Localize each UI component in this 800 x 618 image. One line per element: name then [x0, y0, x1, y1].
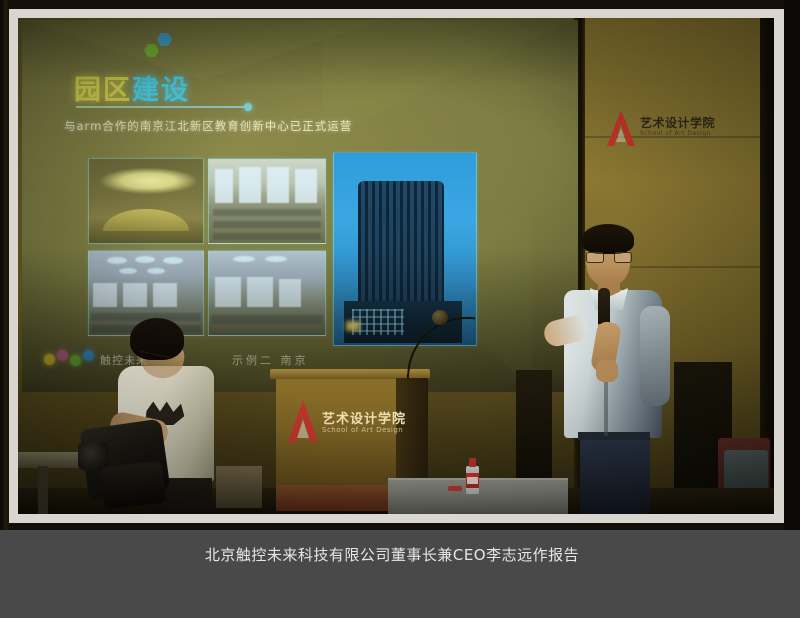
bottle-cap [469, 458, 476, 467]
screenshot-root: 园区建设 与arm合作的南京江北新区教育创新中心已正式运营 [0, 0, 800, 618]
glasses-lens-right [614, 252, 632, 263]
caption-bar: 北京触控未来科技有限公司董事长兼CEO李志远作报告 [0, 530, 800, 618]
presenter-trousers [580, 436, 650, 514]
podium-logo-text: 艺术设计学院 [322, 408, 406, 427]
presenter-hand [596, 360, 618, 382]
venue-wall-logo: 艺术设计学院 School of Art Design [604, 108, 714, 150]
red-arrow-logo-icon [604, 108, 638, 148]
water-bottle [466, 458, 479, 494]
photo-frame-border: 园区建设 与arm合作的南京江北新区教育创新中心已正式运营 [9, 9, 784, 523]
podium-logo-sub: School of Art Design [322, 426, 403, 434]
presenter-glasses-icon [586, 252, 630, 261]
presenter-figure [542, 214, 692, 514]
left-side-table-leg [38, 466, 48, 514]
presenter-hair [582, 224, 634, 254]
camera-lower-body [100, 461, 166, 509]
cameraman-figure [96, 318, 226, 514]
venue-wall-logo-sub: School of Art Design [640, 130, 711, 137]
presenter-right-arm [640, 306, 670, 406]
left-dark-edge [0, 0, 9, 530]
gooseneck-microphone-head-icon [432, 310, 448, 325]
venue-wall-logo-text: 艺术设计学院 [640, 114, 715, 131]
podium-logo: 艺术设计学院 School of Art Design [286, 398, 398, 446]
small-red-object [448, 486, 462, 491]
presenter-waist [578, 432, 650, 440]
red-arrow-logo-icon [286, 398, 320, 444]
photograph: 园区建设 与arm合作的南京江北新区教育创新中心已正式运营 [18, 18, 774, 514]
caption-text: 北京触控未来科技有限公司董事长兼CEO李志远作报告 [0, 544, 800, 565]
camera-lens-icon [78, 442, 108, 470]
bottle-label-inner [467, 477, 478, 484]
right-dark-edge [784, 0, 800, 530]
glasses-lens-left [586, 252, 604, 263]
